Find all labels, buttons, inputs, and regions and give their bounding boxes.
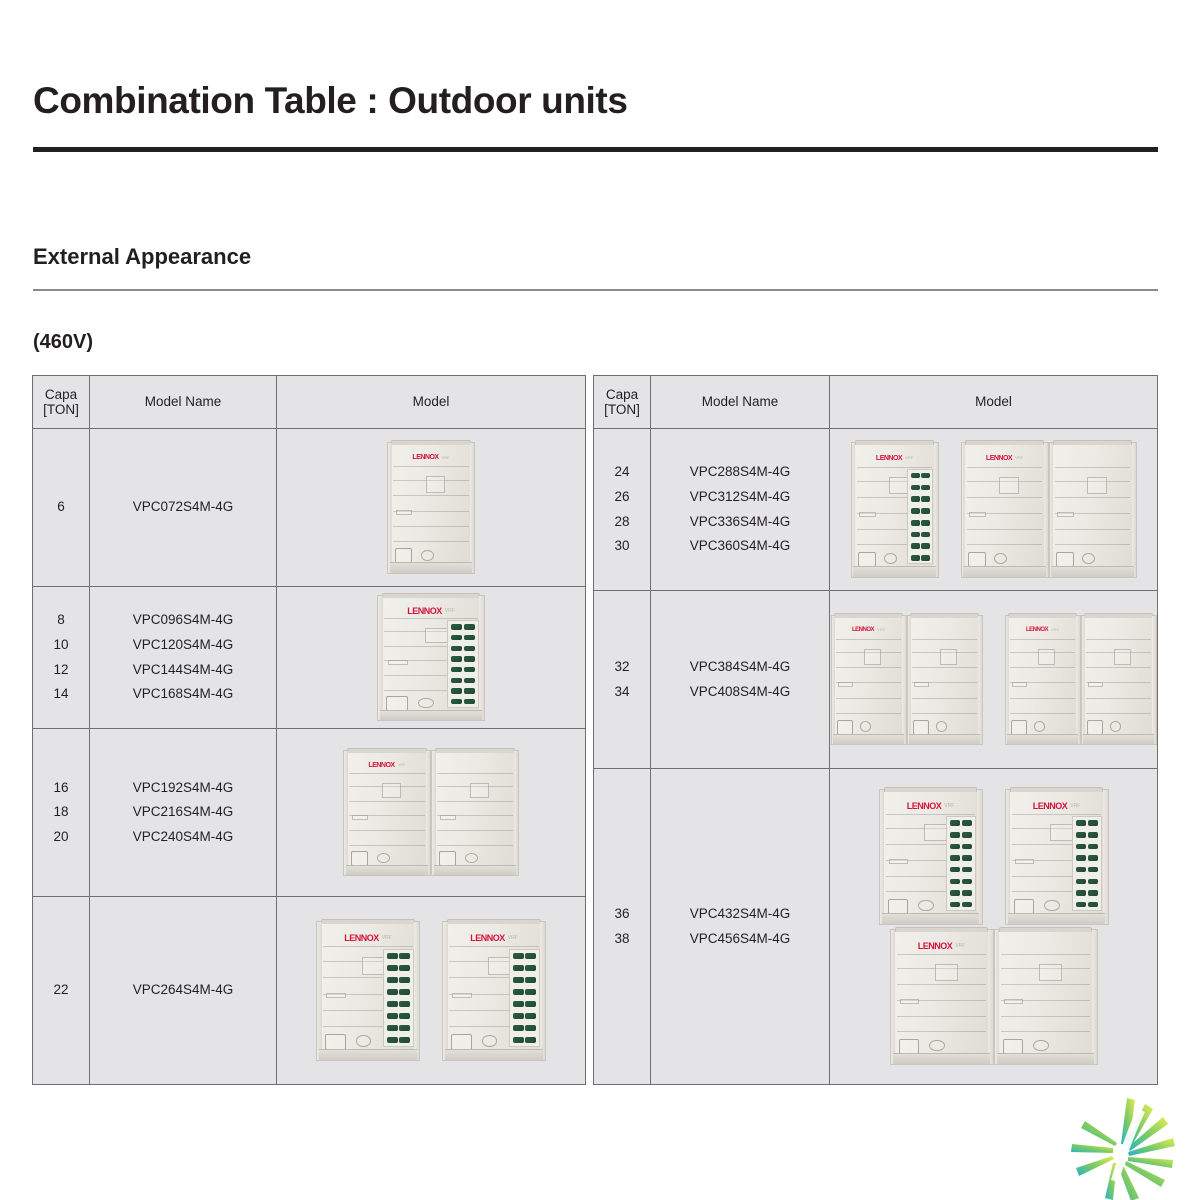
unit-access-panel bbox=[889, 477, 908, 494]
unit-base bbox=[997, 1053, 1095, 1063]
unit-base bbox=[1083, 734, 1154, 744]
capacity-value: 26 bbox=[594, 485, 650, 510]
outdoor-unit: LENNOXVRF bbox=[831, 615, 907, 745]
grille-tile bbox=[962, 832, 972, 838]
unit-top-cap bbox=[1008, 613, 1076, 618]
combination-table-right: Capa [TON] Model Name Model 24262830VPC2… bbox=[593, 375, 1158, 1085]
model-image-cell: LENNOXVRF bbox=[277, 587, 586, 729]
unit-side-frame bbox=[1044, 443, 1048, 577]
lennox-logo: LENNOXVRF bbox=[986, 455, 1023, 462]
grille-tile bbox=[950, 902, 960, 908]
lennox-logo: LENNOXVRF bbox=[407, 607, 455, 616]
grille-tile bbox=[950, 844, 960, 850]
capacity-cell: 22 bbox=[33, 897, 90, 1085]
header-model-name: Model Name bbox=[651, 376, 830, 429]
unit-top-cap bbox=[382, 593, 480, 598]
unit-access-panel bbox=[924, 824, 946, 841]
unit-vent-slot bbox=[452, 993, 471, 998]
radial-burst-logo bbox=[1065, 1098, 1200, 1200]
unit-pipe-fitting bbox=[377, 853, 390, 864]
model-name-cell: VPC288S4M-4GVPC312S4M-4GVPC336S4M-4GVPC3… bbox=[651, 429, 830, 591]
grille-tile bbox=[513, 1037, 523, 1043]
grille-tile bbox=[387, 977, 397, 983]
model-image-cell: LENNOXVRF bbox=[277, 729, 586, 897]
grille-tile bbox=[1076, 855, 1086, 861]
unit-side-frame bbox=[977, 790, 982, 924]
unit-top-cap bbox=[999, 927, 1093, 932]
model-name-value: VPC072S4M-4G bbox=[90, 495, 276, 520]
lennox-logo: LENNOXVRF bbox=[1033, 802, 1081, 811]
unit-side-frame bbox=[962, 443, 966, 577]
grille-tile bbox=[921, 473, 930, 479]
unit-artwork: LENNOXVRFLENNOXVRF bbox=[277, 921, 585, 1061]
unit-artwork: LENNOXVRF bbox=[277, 595, 585, 721]
model-image-cell: LENNOXVRFLENNOXVRF bbox=[830, 591, 1158, 769]
grille-tile bbox=[387, 1001, 397, 1007]
outdoor-unit: LENNOXVRF bbox=[387, 442, 475, 574]
grille-tile bbox=[513, 1001, 523, 1007]
capacity-value: 16 bbox=[33, 776, 89, 801]
model-name-cell: VPC264S4M-4G bbox=[90, 897, 277, 1085]
unit-pipe-fitting bbox=[356, 1035, 371, 1047]
unit-base bbox=[833, 734, 904, 744]
unit-vent-slot bbox=[969, 512, 986, 517]
capacity-value: 8 bbox=[33, 608, 89, 633]
unit-group: LENNOXVRF bbox=[377, 595, 485, 721]
outdoor-unit bbox=[1049, 442, 1137, 578]
right-table-body: 24262830VPC288S4M-4GVPC312S4M-4GVPC336S4… bbox=[594, 429, 1158, 1085]
lennox-logo: LENNOXVRF bbox=[918, 942, 966, 951]
unit-group: LENNOXVRF bbox=[961, 442, 1137, 578]
grille-tile bbox=[451, 624, 462, 629]
header-capa-unit: [TON] bbox=[33, 402, 89, 417]
unit-vent-slot bbox=[838, 682, 853, 687]
grille-tile bbox=[911, 496, 920, 502]
grille-tile bbox=[525, 1025, 535, 1031]
unit-pipe-fitting bbox=[929, 1040, 944, 1051]
grille-tile bbox=[1076, 844, 1086, 850]
unit-vent-slot bbox=[914, 682, 929, 687]
unit-top-cap bbox=[855, 440, 934, 445]
grille-tile bbox=[451, 678, 462, 683]
unit-vent-slot bbox=[1015, 859, 1034, 864]
grille-tile bbox=[399, 1025, 409, 1031]
outdoor-unit: LENNOXVRF bbox=[1005, 615, 1081, 745]
table-row: 6VPC072S4M-4GLENNOXVRF bbox=[33, 429, 586, 587]
grille-tile bbox=[911, 485, 920, 491]
unit-top-cap bbox=[895, 927, 989, 932]
grille-tile bbox=[387, 1037, 397, 1043]
unit-side-frame bbox=[1050, 443, 1054, 577]
unit-side-frame bbox=[1006, 616, 1009, 744]
unit-group: LENNOXVRF bbox=[1005, 789, 1109, 925]
unit-side-frame bbox=[1132, 443, 1136, 577]
model-name-value: VPC264S4M-4G bbox=[90, 978, 276, 1003]
capacity-cell: 3234 bbox=[594, 591, 651, 769]
grille-tile bbox=[513, 1013, 523, 1019]
grille-tile bbox=[387, 1025, 397, 1031]
unit-side-frame bbox=[388, 443, 392, 573]
unit-vent-slot bbox=[889, 859, 908, 864]
lennox-logo: LENNOXVRF bbox=[368, 762, 405, 769]
unit-artwork: LENNOXVRF bbox=[277, 750, 585, 876]
unit-pipe-fitting bbox=[418, 698, 434, 709]
capacity-cell: 161820 bbox=[33, 729, 90, 897]
grille-tile bbox=[464, 646, 475, 651]
grille-tile bbox=[464, 656, 475, 661]
header-capa-label: Capa bbox=[594, 387, 650, 402]
unit-access-panel bbox=[1039, 964, 1061, 981]
grille-tile bbox=[525, 953, 535, 959]
unit-group: LENNOXVRF bbox=[890, 929, 1098, 1065]
unit-pipe-fitting bbox=[1033, 1040, 1048, 1051]
grille-tile bbox=[399, 953, 409, 959]
unit-side-frame bbox=[470, 443, 474, 573]
grille-tile bbox=[513, 1025, 523, 1031]
unit-side-frame bbox=[1076, 616, 1079, 744]
unit-side-frame bbox=[479, 596, 484, 720]
grille-tile bbox=[911, 555, 920, 561]
grille-tile bbox=[525, 1001, 535, 1007]
grille-tile bbox=[921, 543, 930, 549]
grille-tile bbox=[950, 879, 960, 885]
outdoor-unit bbox=[907, 615, 983, 745]
model-name-cell: VPC192S4M-4GVPC216S4M-4GVPC240S4M-4G bbox=[90, 729, 277, 897]
outdoor-unit: LENNOXVRF bbox=[442, 921, 546, 1061]
unit-side-frame bbox=[540, 922, 545, 1060]
heat-exchanger-grille bbox=[509, 949, 540, 1047]
unit-side-frame bbox=[852, 443, 856, 577]
unit-side-frame bbox=[978, 616, 981, 744]
grille-tile bbox=[950, 890, 960, 896]
unit-base-fitting bbox=[1087, 720, 1102, 735]
outdoor-unit: LENNOXVRF bbox=[1005, 789, 1109, 925]
grille-tile bbox=[921, 508, 930, 514]
grille-tile bbox=[1088, 879, 1098, 885]
grille-tile bbox=[962, 820, 972, 826]
unit-pipe-fitting bbox=[421, 550, 434, 561]
grille-tile bbox=[1076, 832, 1086, 838]
grille-tile bbox=[464, 699, 475, 704]
grille-tile bbox=[1076, 867, 1086, 873]
model-image-cell: LENNOXVRF bbox=[277, 429, 586, 587]
unit-access-panel bbox=[935, 964, 957, 981]
unit-base bbox=[963, 566, 1046, 576]
unit-artwork: LENNOXVRFLENNOXVRF bbox=[830, 615, 1157, 745]
outdoor-unit: LENNOXVRF bbox=[377, 595, 485, 721]
unit-side-frame bbox=[934, 443, 938, 577]
unit-access-panel bbox=[382, 783, 401, 799]
grille-tile bbox=[513, 953, 523, 959]
table-header-row: Capa [TON] Model Name Model bbox=[33, 376, 586, 429]
unit-side-frame bbox=[317, 922, 322, 1060]
unit-base-fitting bbox=[1056, 552, 1073, 567]
unit-base bbox=[909, 734, 980, 744]
model-name-cell: VPC384S4M-4GVPC408S4M-4G bbox=[651, 591, 830, 769]
grille-tile bbox=[451, 635, 462, 640]
outdoor-unit: LENNOXVRF bbox=[316, 921, 420, 1061]
unit-side-frame bbox=[426, 751, 430, 875]
title-divider bbox=[33, 147, 1158, 152]
capacity-value: 6 bbox=[33, 495, 89, 520]
grille-tile bbox=[399, 1013, 409, 1019]
unit-artwork: LENNOXVRFLENNOXVRFLENNOXVRF bbox=[830, 789, 1157, 1065]
header-model: Model bbox=[277, 376, 586, 429]
grille-tile bbox=[464, 667, 475, 672]
header-capa: Capa [TON] bbox=[594, 376, 651, 429]
grille-tile bbox=[451, 688, 462, 693]
unit-top-cap bbox=[884, 787, 978, 792]
section-divider bbox=[33, 289, 1158, 291]
grille-tile bbox=[387, 1013, 397, 1019]
table-row: 3234VPC384S4M-4GVPC408S4M-4GLENNOXVRFLEN… bbox=[594, 591, 1158, 769]
model-image-cell: LENNOXVRFLENNOXVRF bbox=[277, 897, 586, 1085]
unit-base-fitting bbox=[1011, 720, 1026, 735]
unit-vent-slot bbox=[396, 510, 413, 515]
unit-access-panel bbox=[864, 649, 881, 665]
grille-tile bbox=[962, 879, 972, 885]
outdoor-unit bbox=[431, 750, 519, 876]
unit-pipe-fitting bbox=[1034, 721, 1046, 732]
unit-vent-slot bbox=[1057, 512, 1074, 517]
grille-tile bbox=[950, 820, 960, 826]
unit-top-cap bbox=[1084, 613, 1152, 618]
unit-vent-slot bbox=[440, 815, 457, 820]
grille-tile bbox=[464, 688, 475, 693]
capacity-cell: 24262830 bbox=[594, 429, 651, 591]
unit-access-panel bbox=[1038, 649, 1055, 665]
unit-vent-slot bbox=[859, 512, 876, 517]
unit-base bbox=[853, 566, 936, 576]
grille-tile bbox=[950, 867, 960, 873]
grille-tile bbox=[451, 667, 462, 672]
grille-tile bbox=[962, 844, 972, 850]
grille-tile bbox=[911, 508, 920, 514]
outdoor-unit bbox=[1081, 615, 1157, 745]
unit-top-cap bbox=[347, 748, 426, 753]
unit-vent-slot bbox=[900, 999, 919, 1004]
unit-base bbox=[882, 913, 980, 923]
unit-group: LENNOXVRF bbox=[1005, 615, 1157, 745]
unit-side-frame bbox=[514, 751, 518, 875]
grille-tile bbox=[1088, 902, 1098, 908]
lennox-logo: LENNOXVRF bbox=[412, 454, 449, 461]
document-page: Combination Table : Outdoor units Extern… bbox=[0, 0, 1200, 1200]
combination-table-left: Capa [TON] Model Name Model 6VPC072S4M-4… bbox=[32, 375, 586, 1085]
grille-tile bbox=[962, 867, 972, 873]
outdoor-unit bbox=[994, 929, 1098, 1065]
grille-tile bbox=[950, 832, 960, 838]
unit-pipe-fitting bbox=[465, 853, 478, 864]
table-row: 161820VPC192S4M-4GVPC216S4M-4GVPC240S4M-… bbox=[33, 729, 586, 897]
model-name-value: VPC336S4M-4G bbox=[651, 510, 829, 535]
unit-base-fitting bbox=[1014, 899, 1034, 914]
outdoor-unit: LENNOXVRF bbox=[851, 442, 939, 578]
lennox-logo: LENNOXVRF bbox=[876, 455, 913, 462]
header-capa-label: Capa bbox=[33, 387, 89, 402]
unit-group-row: LENNOXVRF bbox=[890, 929, 1098, 1065]
lennox-logo: LENNOXVRF bbox=[907, 802, 955, 811]
unit-group: LENNOXVRF bbox=[831, 615, 983, 745]
unit-pipe-fitting bbox=[918, 900, 933, 911]
unit-base-fitting bbox=[439, 851, 456, 865]
unit-base bbox=[390, 562, 473, 572]
grille-tile bbox=[1088, 855, 1098, 861]
table-row: 22VPC264S4M-4GLENNOXVRFLENNOXVRF bbox=[33, 897, 586, 1085]
left-table-body: 6VPC072S4M-4GLENNOXVRF8101214VPC096S4M-4… bbox=[33, 429, 586, 1085]
grille-tile bbox=[911, 543, 920, 549]
capacity-value: 12 bbox=[33, 658, 89, 683]
unit-base-fitting bbox=[351, 851, 368, 865]
unit-group: LENNOXVRF bbox=[316, 921, 420, 1061]
grille-tile bbox=[399, 989, 409, 995]
unit-vent-slot bbox=[352, 815, 369, 820]
capacity-value: 30 bbox=[594, 534, 650, 559]
unit-group: LENNOXVRF bbox=[879, 789, 983, 925]
grille-tile bbox=[464, 635, 475, 640]
model-name-value: VPC456S4M-4G bbox=[651, 927, 829, 952]
capacity-value: 32 bbox=[594, 655, 650, 680]
unit-top-cap bbox=[910, 613, 978, 618]
grille-tile bbox=[387, 989, 397, 995]
capacity-value: 14 bbox=[33, 682, 89, 707]
unit-side-frame bbox=[1082, 616, 1085, 744]
heat-exchanger-grille bbox=[447, 620, 479, 708]
header-capa: Capa [TON] bbox=[33, 376, 90, 429]
unit-side-frame bbox=[832, 616, 835, 744]
capacity-value: 34 bbox=[594, 680, 650, 705]
capacity-value: 38 bbox=[594, 927, 650, 952]
unit-vent-slot bbox=[388, 660, 408, 665]
model-name-value: VPC192S4M-4G bbox=[90, 776, 276, 801]
outdoor-unit: LENNOXVRF bbox=[890, 929, 994, 1065]
grille-tile bbox=[911, 520, 920, 526]
unit-side-frame bbox=[908, 616, 911, 744]
capacity-value: 20 bbox=[33, 825, 89, 850]
model-name-value: VPC120S4M-4G bbox=[90, 633, 276, 658]
unit-side-frame bbox=[443, 922, 448, 1060]
unit-side-frame bbox=[1103, 790, 1108, 924]
unit-base-fitting bbox=[888, 899, 908, 914]
grille-tile bbox=[1076, 820, 1086, 826]
grille-tile bbox=[464, 678, 475, 683]
unit-top-cap bbox=[391, 440, 470, 445]
header-model: Model bbox=[830, 376, 1158, 429]
unit-side-frame bbox=[414, 922, 419, 1060]
unit-base-fitting bbox=[858, 552, 875, 567]
model-name-cell: VPC432S4M-4GVPC456S4M-4G bbox=[651, 769, 830, 1085]
unit-base-fitting bbox=[968, 552, 985, 567]
unit-side-frame bbox=[432, 751, 436, 875]
unit-side-frame bbox=[988, 930, 993, 1064]
model-name-value: VPC288S4M-4G bbox=[651, 460, 829, 485]
unit-access-panel bbox=[999, 477, 1018, 494]
unit-base bbox=[893, 1053, 991, 1063]
unit-top-cap bbox=[1053, 440, 1132, 445]
unit-vent-slot bbox=[1088, 682, 1103, 687]
unit-pipe-fitting bbox=[1082, 553, 1095, 564]
unit-artwork: LENNOXVRFLENNOXVRF bbox=[830, 442, 1157, 578]
unit-base bbox=[319, 1049, 417, 1060]
unit-side-frame bbox=[995, 930, 1000, 1064]
capacity-value: 28 bbox=[594, 510, 650, 535]
section-title: External Appearance bbox=[33, 244, 251, 270]
grille-tile bbox=[1076, 902, 1086, 908]
unit-pipe-fitting bbox=[936, 721, 948, 732]
outdoor-unit: LENNOXVRF bbox=[879, 789, 983, 925]
table-header-row: Capa [TON] Model Name Model bbox=[594, 376, 1158, 429]
unit-base bbox=[434, 865, 517, 875]
unit-base-fitting bbox=[325, 1034, 345, 1050]
page-title: Combination Table : Outdoor units bbox=[33, 80, 628, 122]
unit-base bbox=[1008, 913, 1106, 923]
unit-base-fitting bbox=[913, 720, 928, 735]
heat-exchanger-grille bbox=[946, 816, 977, 911]
unit-group: LENNOXVRF bbox=[851, 442, 939, 578]
model-name-value: VPC408S4M-4G bbox=[651, 680, 829, 705]
model-image-cell: LENNOXVRFLENNOXVRF bbox=[830, 429, 1158, 591]
heat-exchanger-grille bbox=[907, 469, 933, 564]
unit-access-panel bbox=[488, 957, 510, 974]
unit-top-cap bbox=[1010, 787, 1104, 792]
unit-pipe-fitting bbox=[994, 553, 1007, 564]
grille-tile bbox=[911, 532, 920, 538]
unit-access-panel bbox=[426, 476, 445, 492]
grille-tile bbox=[962, 890, 972, 896]
model-name-value: VPC168S4M-4G bbox=[90, 682, 276, 707]
unit-base bbox=[445, 1049, 543, 1060]
lennox-logo: LENNOXVRF bbox=[344, 934, 392, 943]
grille-tile bbox=[921, 555, 930, 561]
unit-base bbox=[1007, 734, 1078, 744]
model-name-value: VPC216S4M-4G bbox=[90, 800, 276, 825]
unit-pipe-fitting bbox=[482, 1035, 497, 1047]
unit-group: LENNOXVRF bbox=[343, 750, 519, 876]
heat-exchanger-grille bbox=[383, 949, 414, 1047]
grille-tile bbox=[1076, 879, 1086, 885]
model-name-value: VPC144S4M-4G bbox=[90, 658, 276, 683]
grille-tile bbox=[921, 496, 930, 502]
grille-tile bbox=[464, 624, 475, 629]
unit-access-panel bbox=[425, 628, 448, 644]
unit-base-fitting bbox=[837, 720, 852, 735]
unit-side-frame bbox=[1006, 790, 1011, 924]
unit-side-frame bbox=[891, 930, 896, 1064]
table-row: 3638VPC432S4M-4GVPC456S4M-4GLENNOXVRFLEN… bbox=[594, 769, 1158, 1085]
unit-top-cap bbox=[834, 613, 902, 618]
grille-tile bbox=[921, 485, 930, 491]
unit-pipe-fitting bbox=[860, 721, 872, 732]
grille-tile bbox=[1088, 844, 1098, 850]
grille-tile bbox=[525, 965, 535, 971]
grille-tile bbox=[921, 532, 930, 538]
unit-base-fitting bbox=[1003, 1039, 1023, 1054]
grille-tile bbox=[451, 699, 462, 704]
voltage-label: (460V) bbox=[33, 331, 93, 354]
model-name-value: VPC360S4M-4G bbox=[651, 534, 829, 559]
grille-tile bbox=[525, 989, 535, 995]
model-name-value: VPC096S4M-4G bbox=[90, 608, 276, 633]
capacity-value: 10 bbox=[33, 633, 89, 658]
unit-side-frame bbox=[378, 596, 383, 720]
outdoor-unit: LENNOXVRF bbox=[343, 750, 431, 876]
model-name-cell: VPC072S4M-4G bbox=[90, 429, 277, 587]
capacity-value: 24 bbox=[594, 460, 650, 485]
outdoor-unit: LENNOXVRF bbox=[961, 442, 1049, 578]
grille-tile bbox=[399, 965, 409, 971]
unit-access-panel bbox=[1114, 649, 1131, 665]
grille-tile bbox=[962, 855, 972, 861]
